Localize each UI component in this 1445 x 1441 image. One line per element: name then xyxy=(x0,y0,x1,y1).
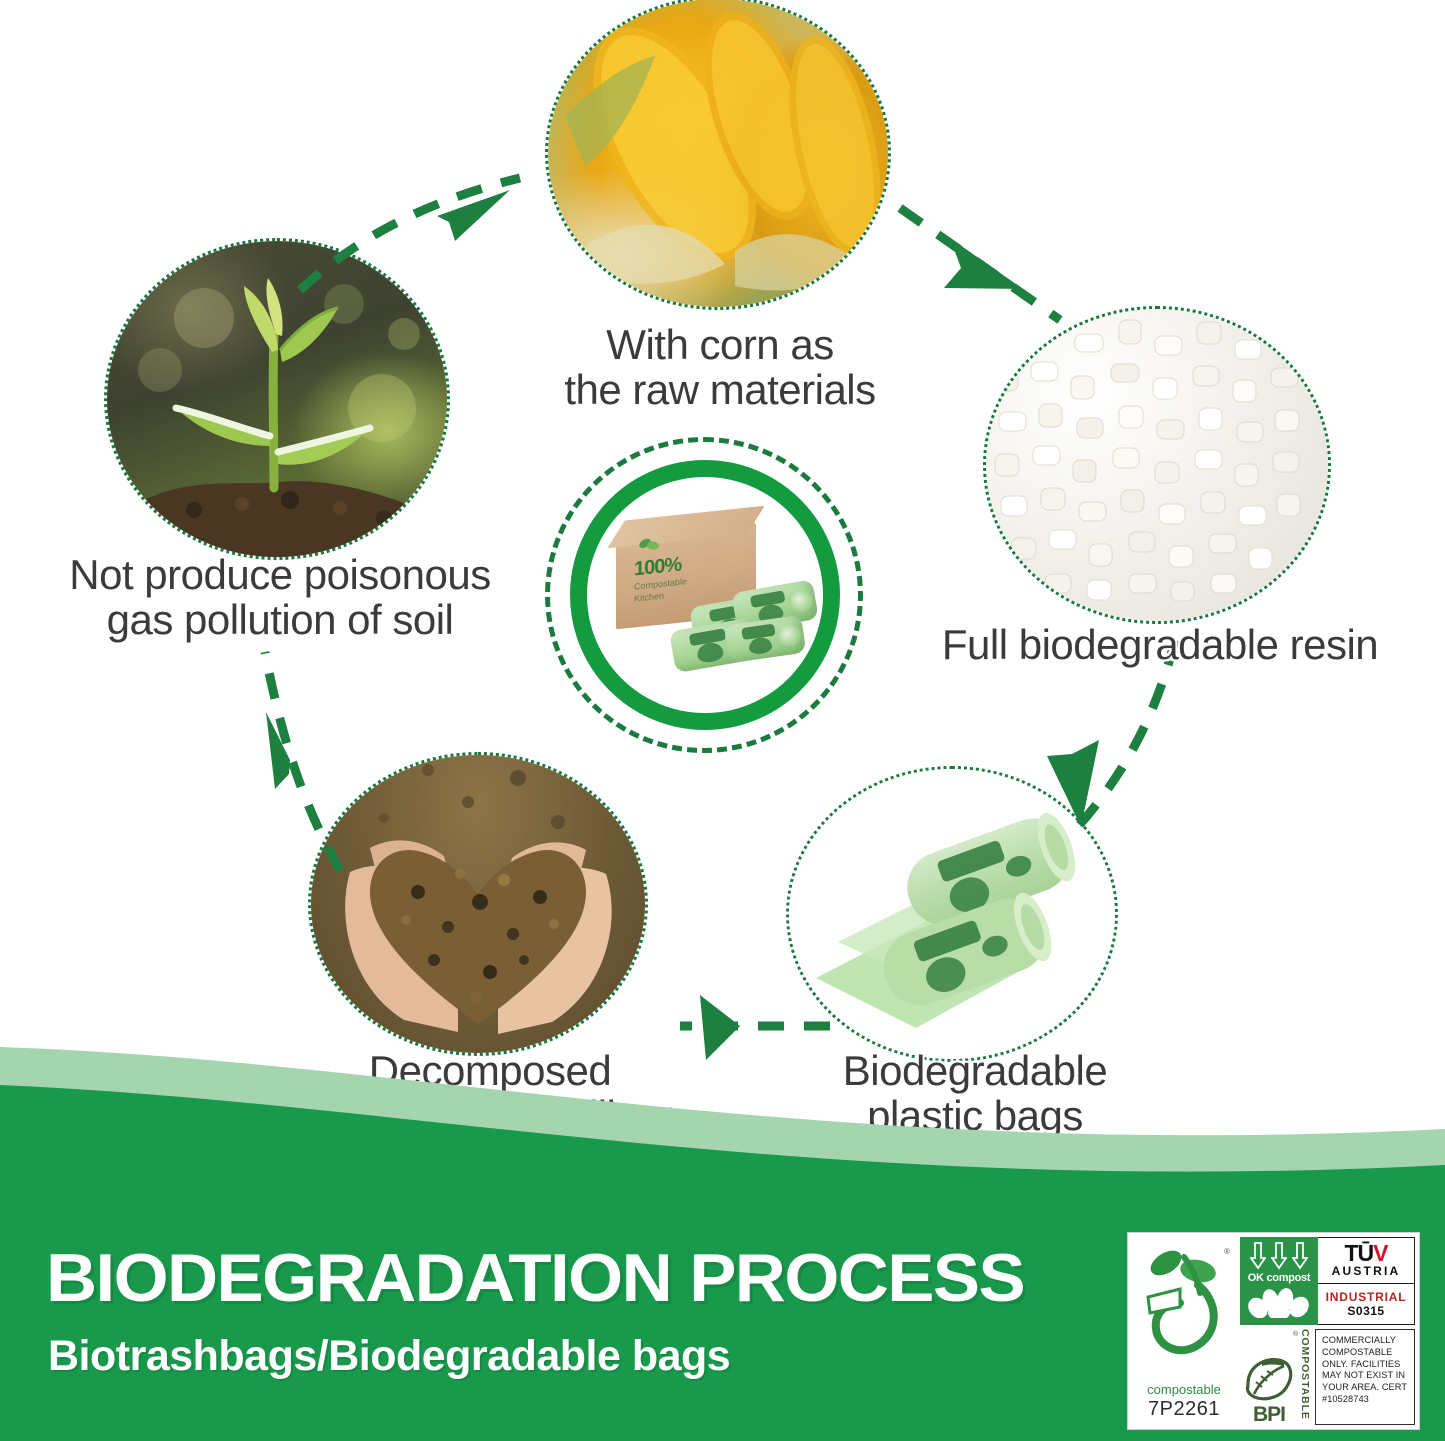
ok-compost-label: OK compost xyxy=(1248,1272,1310,1284)
caption-corn: With corn as the raw materials xyxy=(520,322,920,413)
arrow-plant-to-corn xyxy=(300,178,520,290)
center-product-node: 100% Compostable Kitchen xyxy=(570,460,840,730)
tuv-country: AUSTRIA xyxy=(1332,1264,1401,1278)
ok-compost-certification: OK compost xyxy=(1240,1237,1318,1325)
certification-panel: ® compostable 7P2261 xyxy=(1127,1232,1420,1430)
bpi-label: BPI xyxy=(1240,1404,1298,1425)
page-title: BIODEGRADATION PROCESS xyxy=(46,1239,1024,1317)
down-arrows-icon xyxy=(1250,1241,1308,1271)
flower-icon xyxy=(1248,1288,1310,1323)
tuv-number: S0315 xyxy=(1347,1304,1384,1318)
product-package-art: 100% Compostable Kitchen xyxy=(608,508,804,684)
infographic-canvas: .dash { fill:none; stroke:#1e8040; strok… xyxy=(0,0,1445,1441)
bpi-registered-mark: ® xyxy=(1293,1331,1298,1338)
arrow-resin-to-bags xyxy=(1047,640,1175,830)
caption-resin: Full biodegradable resin xyxy=(905,622,1415,667)
caption-plant: Not produce poisonous gas pollution of s… xyxy=(10,552,550,643)
bpi-certification: ® BPI xyxy=(1240,1329,1298,1425)
bpi-leaf-icon xyxy=(1240,1354,1298,1404)
carton-leaf-icon xyxy=(638,537,660,553)
tuv-austria-certification: TŪV AUSTRIA INDUSTRIAL S0315 xyxy=(1318,1237,1415,1325)
bpi-disclaimer-note: COMMERCIALLY COMPOSTABLE ONLY. FACILITIE… xyxy=(1315,1329,1415,1425)
seedling-certification: ® compostable 7P2261 xyxy=(1132,1237,1236,1425)
tuv-letter-t: T xyxy=(1344,1240,1357,1266)
arrow-corn-to-resin xyxy=(900,208,1060,320)
seedling-label: compostable xyxy=(1147,1383,1221,1396)
tuv-brand: TŪV xyxy=(1344,1243,1387,1265)
tuv-letter-v: V xyxy=(1373,1240,1387,1266)
bpi-compostable-vertical-label: COMPOSTABLE xyxy=(1299,1329,1311,1425)
arrow-compost-to-plant xyxy=(265,652,340,870)
page-subtitle: Biotrashbags/Biodegradable bags xyxy=(48,1332,730,1381)
seedling-logo-icon xyxy=(1140,1243,1232,1371)
tuv-letter-u: Ū xyxy=(1358,1240,1374,1266)
tuv-grade: INDUSTRIAL xyxy=(1326,1290,1407,1304)
seedling-code: 7P2261 xyxy=(1148,1398,1220,1421)
